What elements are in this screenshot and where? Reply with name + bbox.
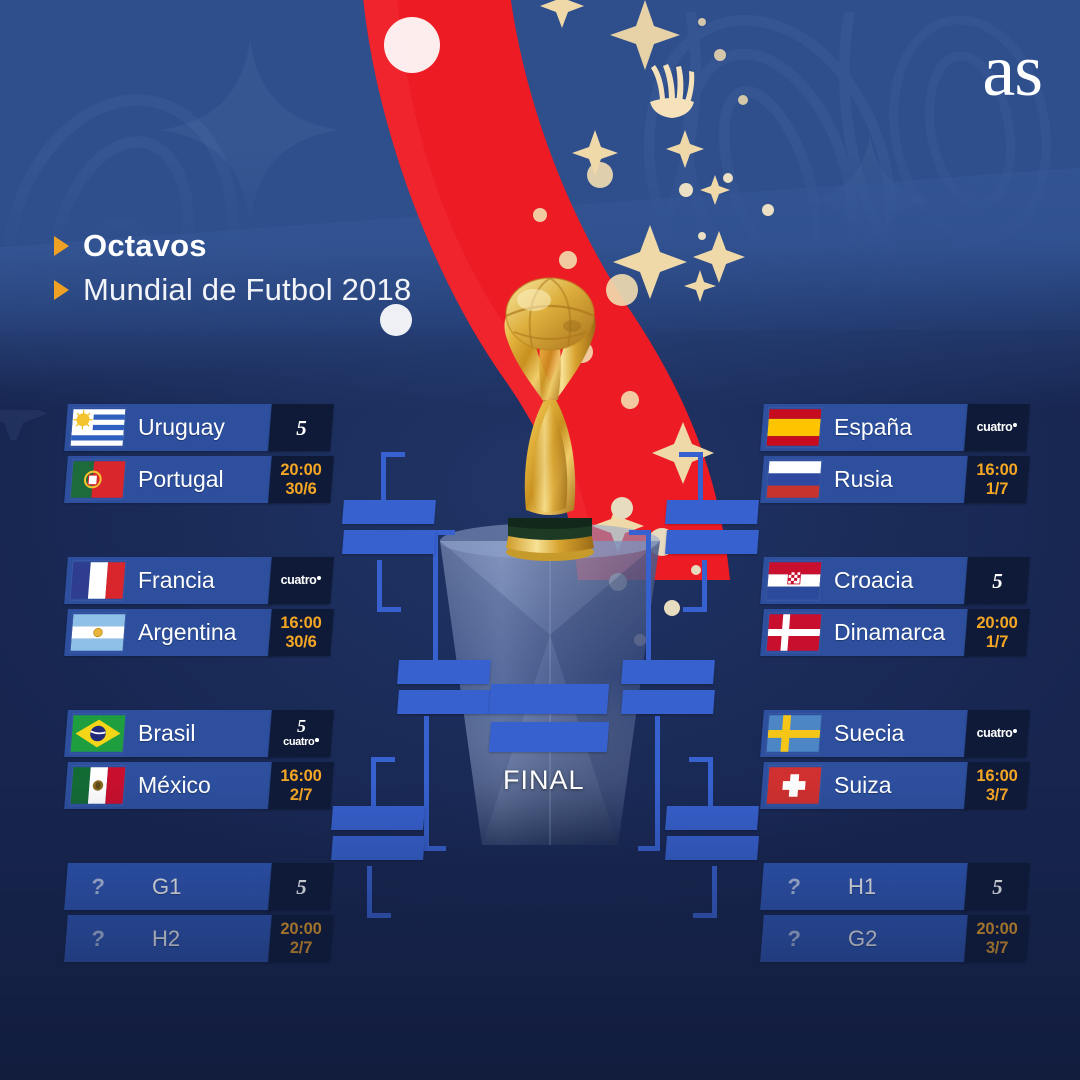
- match-time: 16:00 1/7: [966, 456, 1028, 503]
- flag-suecia: [766, 714, 821, 753]
- team-name: H1: [848, 863, 876, 910]
- match-card-francia-argentina[interactable]: Francia cuatro Argentina 16:00 30/6: [66, 557, 332, 661]
- connector-r-sf-stub-bot: [638, 846, 660, 851]
- connector-l1-v-bot: [377, 560, 382, 612]
- date-value: 2/7: [290, 939, 312, 958]
- flag-espana: [766, 408, 821, 447]
- flag-francia: [70, 561, 125, 600]
- flag-portugal: [70, 460, 125, 499]
- time-value: 20:00: [280, 461, 321, 480]
- bracket-bar: [621, 660, 715, 684]
- team-name: Suiza: [834, 762, 892, 809]
- channel-box: [268, 710, 334, 757]
- team-name: Uruguay: [138, 404, 225, 451]
- match-card-g1-h2[interactable]: ? G1 5 ? H2 20:00 2/7: [66, 863, 332, 967]
- channel-box: [964, 710, 1030, 757]
- final-slot[interactable]: [490, 684, 608, 760]
- connector-l-sf-v-bot: [424, 716, 429, 851]
- connector-l-sf-stub-bot: [424, 846, 446, 851]
- match-row-bottom[interactable]: Dinamarca 20:00 1/7: [762, 609, 1028, 656]
- date-value: 2/7: [290, 786, 312, 805]
- bracket-bar: [489, 722, 609, 752]
- flag-rusia: [766, 460, 821, 499]
- date-value: 1/7: [986, 480, 1008, 499]
- flag-croacia: [766, 561, 821, 600]
- as-diario-logo[interactable]: as: [982, 34, 1042, 108]
- time-value: 20:00: [280, 920, 321, 939]
- match-row-bottom[interactable]: ? G2 20:00 3/7: [762, 915, 1028, 962]
- bracket-bar: [489, 684, 609, 714]
- match-row-top[interactable]: Francia cuatro: [66, 557, 332, 604]
- match-time: 16:00 30/6: [270, 609, 332, 656]
- infographic-canvas: as Octavos Mundial de Futbol 2018: [0, 0, 1080, 1080]
- connector-l1-v-top: [381, 452, 386, 504]
- unknown-team-icon: ?: [766, 919, 821, 958]
- bracket-bar: [342, 500, 436, 524]
- channel-box: [964, 557, 1030, 604]
- match-card-brasil-mexico[interactable]: Brasil 5 cuatro México 16:00 2/7: [66, 710, 332, 814]
- connector-r-sf-v-top: [646, 530, 651, 665]
- flag-mexico: [70, 766, 125, 805]
- world-cup-trophy: [460, 270, 640, 570]
- quarterfinal-slot-left-1[interactable]: [343, 500, 435, 560]
- flag-argentina: [70, 613, 125, 652]
- quarterfinal-slot-right-1[interactable]: [666, 500, 758, 560]
- time-value: 16:00: [976, 461, 1017, 480]
- time-value: 20:00: [976, 920, 1017, 939]
- triangle-bullet-icon-2: [54, 280, 69, 300]
- match-time: 20:00 2/7: [270, 915, 332, 962]
- connector-r1-stub-bot: [683, 607, 707, 612]
- connector-r1-v-bot: [702, 560, 707, 612]
- match-row-bottom[interactable]: Argentina 16:00 30/6: [66, 609, 332, 656]
- match-row-top[interactable]: Brasil 5 cuatro: [66, 710, 332, 757]
- time-value: 16:00: [280, 767, 321, 786]
- unknown-team-icon: ?: [70, 919, 125, 958]
- match-card-uruguay-portugal[interactable]: Uruguay 5 Portugal 20:00 30/6: [66, 404, 332, 508]
- match-row-top[interactable]: Uruguay 5: [66, 404, 332, 451]
- time-value: 20:00: [976, 614, 1017, 633]
- match-row-top[interactable]: España cuatro: [762, 404, 1028, 451]
- bracket-bar: [397, 690, 491, 714]
- connector-l-sf-stub-top: [433, 530, 455, 535]
- bracket-bar: [621, 690, 715, 714]
- team-name: G2: [848, 915, 877, 962]
- connector-r2-v-bot: [712, 866, 717, 918]
- match-time: 20:00 30/6: [270, 456, 332, 503]
- team-name: Argentina: [138, 609, 236, 656]
- connector-l2-v-top: [371, 757, 376, 809]
- team-name: Francia: [138, 557, 215, 604]
- connector-r1-stub-top: [679, 452, 703, 457]
- final-label: FINAL: [503, 765, 585, 796]
- match-row-top[interactable]: ? H1 5: [762, 863, 1028, 910]
- title-row-subtitle: Mundial de Futbol 2018: [54, 272, 411, 308]
- connector-l2-stub-top: [371, 757, 395, 762]
- unknown-team-icon: ?: [70, 867, 125, 906]
- match-row-bottom[interactable]: Rusia 16:00 1/7: [762, 456, 1028, 503]
- team-name: Brasil: [138, 710, 196, 757]
- bracket-bar: [331, 806, 425, 830]
- time-value: 16:00: [280, 614, 321, 633]
- bracket-bar: [665, 500, 759, 524]
- match-card-h1-g2[interactable]: ? H1 5 ? G2 20:00 3/7: [762, 863, 1028, 967]
- match-row-bottom[interactable]: ? H2 20:00 2/7: [66, 915, 332, 962]
- page-title: Octavos: [83, 228, 207, 264]
- match-time: 20:00 1/7: [966, 609, 1028, 656]
- quarterfinal-slot-right-2[interactable]: [666, 806, 758, 866]
- connector-l1-stub-top: [381, 452, 405, 457]
- flag-uruguay: [70, 408, 125, 447]
- channel-box: [268, 557, 334, 604]
- connector-l2-stub-bot: [367, 913, 391, 918]
- bracket-bar: [665, 530, 759, 554]
- team-name: Rusia: [834, 456, 893, 503]
- team-name: Croacia: [834, 557, 913, 604]
- channel-box: [964, 863, 1030, 910]
- bracket-bar: [665, 806, 759, 830]
- match-time: 16:00 3/7: [966, 762, 1028, 809]
- page-subtitle: Mundial de Futbol 2018: [83, 272, 411, 308]
- match-time: 20:00 3/7: [966, 915, 1028, 962]
- match-row-top[interactable]: Suecia cuatro: [762, 710, 1028, 757]
- match-row-bottom[interactable]: Suiza 16:00 3/7: [762, 762, 1028, 809]
- connector-l1-stub-bot: [377, 607, 401, 612]
- connector-r1-v-top: [698, 452, 703, 504]
- channel-box: [268, 404, 334, 451]
- match-row-top[interactable]: ? G1 5: [66, 863, 332, 910]
- connector-r2-stub-bot: [693, 913, 717, 918]
- team-name: Portugal: [138, 456, 224, 503]
- connector-l2-v-bot: [367, 866, 372, 918]
- bracket-bar: [331, 836, 425, 860]
- bracket-bar: [342, 530, 436, 554]
- match-row-bottom[interactable]: Portugal 20:00 30/6: [66, 456, 332, 503]
- team-name: G1: [152, 863, 181, 910]
- connector-r2-v-top: [708, 757, 713, 809]
- match-row-bottom[interactable]: México 16:00 2/7: [66, 762, 332, 809]
- connector-r-sf-stub-top: [629, 530, 651, 535]
- bracket-bar: [397, 660, 491, 684]
- date-value: 30/6: [285, 480, 316, 499]
- team-name: Suecia: [834, 710, 904, 757]
- team-name: Dinamarca: [834, 609, 945, 656]
- match-row-top[interactable]: Croacia 5: [762, 557, 1028, 604]
- quarterfinal-slot-left-2[interactable]: [332, 806, 424, 866]
- bracket-bar: [665, 836, 759, 860]
- date-value: 1/7: [986, 633, 1008, 652]
- match-time: 16:00 2/7: [270, 762, 332, 809]
- match-card-suecia-suiza[interactable]: Suecia cuatro Suiza 16:00 3/7: [762, 710, 1028, 814]
- date-value: 3/7: [986, 939, 1008, 958]
- page-title-block: Octavos Mundial de Futbol 2018: [54, 228, 411, 316]
- channel-box: [964, 404, 1030, 451]
- time-value: 16:00: [976, 767, 1017, 786]
- connector-r2-stub-top: [689, 757, 713, 762]
- team-name: España: [834, 404, 912, 451]
- match-card-espana-rusia[interactable]: España cuatro Rusia 16:00 1/7: [762, 404, 1028, 508]
- match-card-croacia-dinamarca[interactable]: Croacia 5 Dinamarca 20:00 1/7: [762, 557, 1028, 661]
- triangle-bullet-icon: [54, 236, 69, 256]
- flag-dinamarca: [766, 613, 821, 652]
- semifinal-slot-right[interactable]: [622, 660, 714, 720]
- date-value: 30/6: [285, 633, 316, 652]
- title-row-octavos: Octavos: [54, 228, 411, 264]
- channel-box: [268, 863, 334, 910]
- flag-brasil: [70, 714, 125, 753]
- flag-suiza: [766, 766, 821, 805]
- date-value: 3/7: [986, 786, 1008, 805]
- connector-r-sf-v-bot: [655, 716, 660, 851]
- team-name: H2: [152, 915, 180, 962]
- semifinal-slot-left[interactable]: [398, 660, 490, 720]
- team-name: México: [138, 762, 211, 809]
- unknown-team-icon: ?: [766, 867, 821, 906]
